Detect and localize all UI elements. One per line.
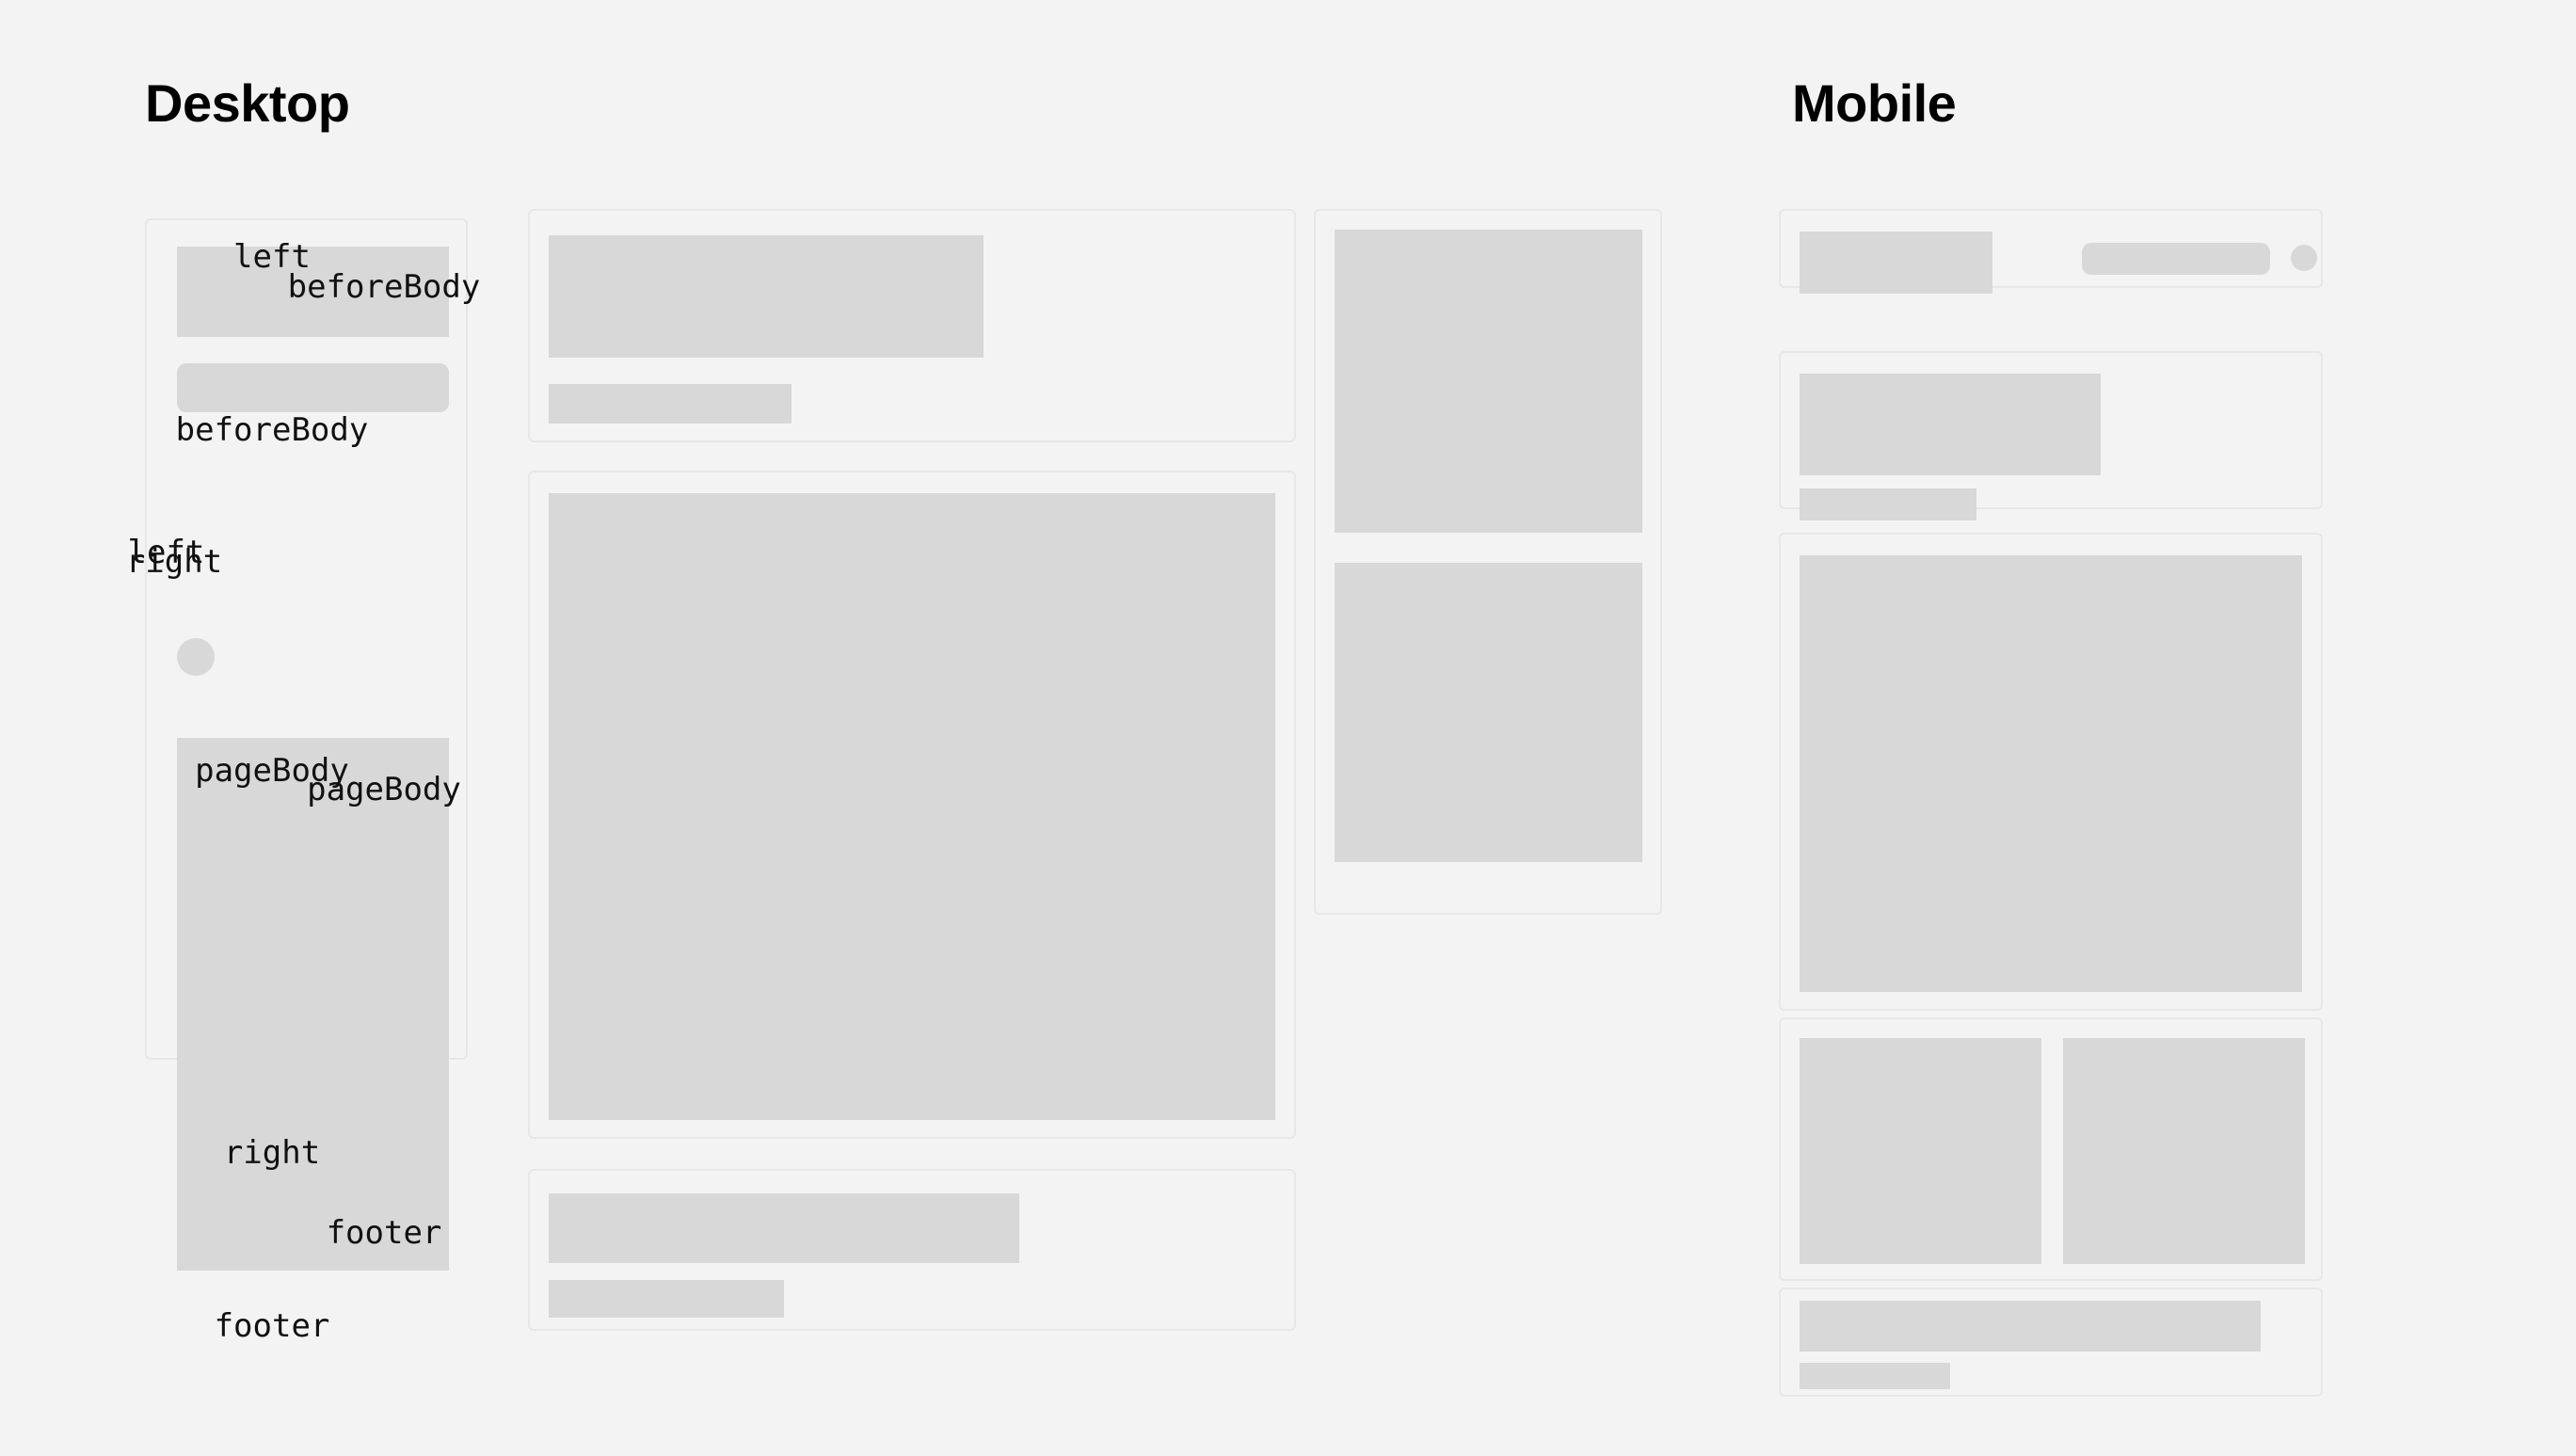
desktop-right-region-card[interactable] <box>1314 209 1662 915</box>
mobile-right-region-card[interactable] <box>1779 1017 2323 1281</box>
mobile-right-right-placeholder <box>2063 1038 2305 1264</box>
desktop-beforebody-wide-placeholder <box>549 235 984 358</box>
mobile-left-bar-placeholder <box>2082 243 2270 275</box>
mobile-beforebody-region-card[interactable] <box>1779 351 2323 509</box>
mobile-footer-region-card[interactable] <box>1779 1288 2323 1397</box>
desktop-right-top-placeholder <box>1335 230 1642 533</box>
desktop-left-region-card[interactable] <box>145 218 468 1060</box>
mobile-section-heading: Mobile <box>1792 77 1956 130</box>
mobile-left-avatar-dot-icon <box>2291 245 2317 271</box>
layout-preview-canvas: Desktop Mobile left beforeBody pageBody … <box>0 0 2576 1456</box>
mobile-left-region-card[interactable] <box>1779 209 2323 288</box>
desktop-right-bottom-placeholder <box>1335 563 1642 862</box>
mobile-footer-region-label: footer <box>0 1310 544 1342</box>
mobile-right-left-placeholder <box>1800 1038 2041 1264</box>
mobile-left-header-placeholder <box>1800 232 1992 294</box>
desktop-left-tall-placeholder <box>177 738 449 1271</box>
desktop-footer-wide-placeholder <box>549 1193 1019 1263</box>
desktop-beforebody-small-bar-placeholder <box>549 384 792 424</box>
mobile-footer-small-bar-placeholder <box>1800 1363 1950 1389</box>
desktop-pagebody-region-card[interactable] <box>528 471 1296 1139</box>
desktop-footer-small-bar-placeholder <box>549 1280 784 1318</box>
desktop-section-heading: Desktop <box>145 77 349 130</box>
mobile-beforebody-wide-placeholder <box>1800 374 2101 475</box>
mobile-beforebody-small-bar-placeholder <box>1800 488 1976 520</box>
desktop-footer-region-card[interactable] <box>528 1169 1296 1331</box>
mobile-footer-wide-placeholder <box>1800 1301 2261 1352</box>
desktop-beforebody-region-card[interactable] <box>528 209 1296 442</box>
desktop-left-header-placeholder <box>177 247 449 337</box>
desktop-left-avatar-dot-icon <box>177 638 215 676</box>
mobile-pagebody-main-placeholder <box>1800 555 2302 992</box>
desktop-pagebody-main-placeholder <box>549 493 1275 1120</box>
desktop-left-bar-placeholder <box>177 363 449 412</box>
mobile-pagebody-region-card[interactable] <box>1779 533 2323 1011</box>
